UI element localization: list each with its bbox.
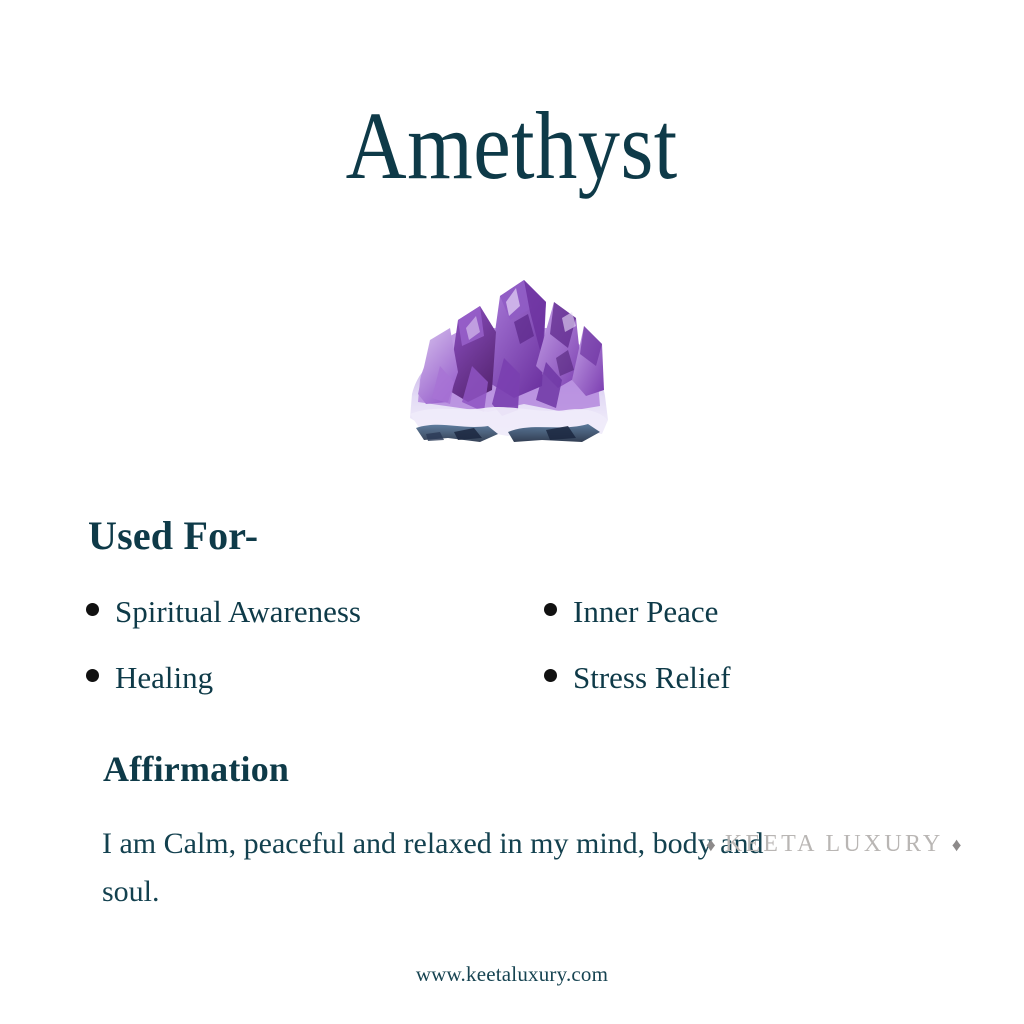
list-item: Healing (86, 662, 544, 693)
bullet-dot-icon (544, 603, 557, 616)
footer-website[interactable]: www.keetaluxury.com (0, 962, 1024, 987)
bullet-dot-icon (86, 603, 99, 616)
list-item-label: Stress Relief (573, 662, 731, 693)
list-item-label: Spiritual Awareness (115, 596, 361, 627)
bullet-dot-icon (544, 669, 557, 682)
brand-watermark: ♦ KEETA LUXURY ♦ (706, 831, 961, 858)
affirmation-heading: Affirmation (103, 748, 289, 790)
page-title-container: Amethyst (0, 96, 1024, 197)
used-for-row: Healing Stress Relief (86, 662, 946, 728)
list-item-label: Healing (115, 662, 213, 693)
used-for-list: Spiritual Awareness Inner Peace Healing … (86, 596, 946, 728)
used-for-row: Spiritual Awareness Inner Peace (86, 596, 946, 662)
list-item-label: Inner Peace (573, 596, 718, 627)
list-item: Stress Relief (544, 662, 944, 693)
amethyst-crystal-info-card: Amethyst (0, 0, 1024, 1024)
bullet-dot-icon (86, 669, 99, 682)
list-item: Spiritual Awareness (86, 596, 544, 627)
page-title: Amethyst (346, 96, 678, 197)
affirmation-text: I am Calm, peaceful and relaxed in my mi… (102, 820, 802, 916)
list-item: Inner Peace (544, 596, 944, 627)
amethyst-crystal-cluster-icon (396, 262, 620, 452)
watermark-text: KEETA LUXURY (725, 831, 943, 857)
diamond-icon-right: ♦ (952, 835, 962, 856)
diamond-icon-left: ♦ (706, 835, 716, 856)
used-for-heading: Used For- (88, 512, 258, 559)
